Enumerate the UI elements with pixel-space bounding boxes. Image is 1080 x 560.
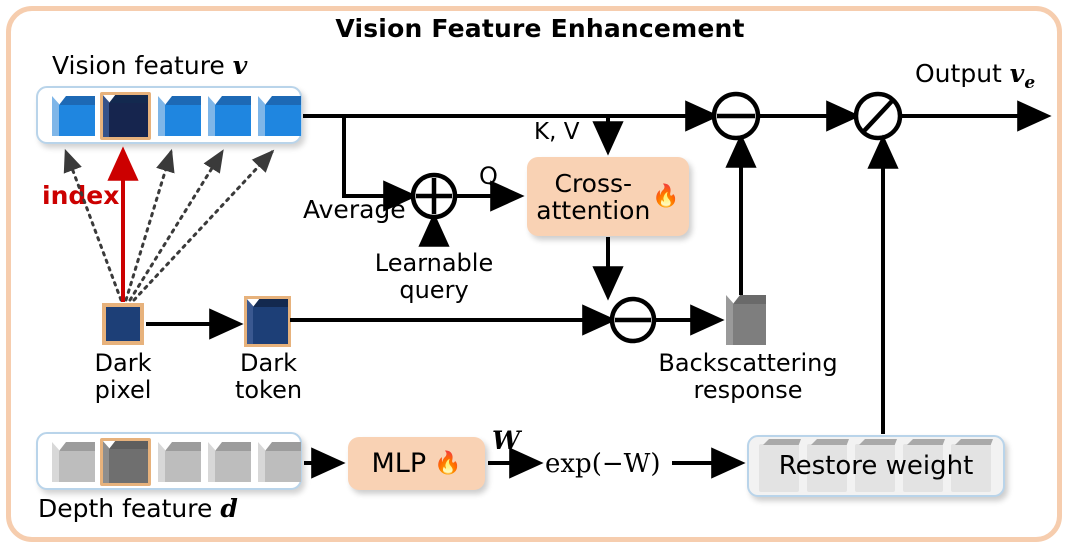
dark-token-label: Dark token [216, 350, 321, 404]
vision-token-2-highlight [100, 92, 151, 140]
q-label: Q [479, 163, 498, 190]
average-label: Average [303, 196, 406, 224]
page-title: Vision Feature Enhancement [0, 14, 1080, 43]
dark-token-highlight [244, 296, 291, 347]
dark-pixel-label-line2: pixel [73, 377, 173, 404]
depth-token-5[interactable] [258, 442, 301, 482]
dark-pixel-square[interactable] [102, 303, 144, 345]
depth-feature-label: Depth feature d [38, 495, 238, 523]
dark-pixel-label-line1: Dark [73, 350, 173, 377]
w-label: W [492, 427, 520, 455]
depth-feature-symbol: d [220, 494, 237, 523]
index-label: index [42, 182, 119, 210]
cross-attention-block[interactable]: Cross- attention 🔥 [527, 157, 689, 236]
flame-icon-mlp: 🔥 [434, 453, 461, 475]
learnable-query-line1: Learnable [364, 250, 504, 277]
vision-feature-label: Vision feature v [52, 52, 247, 80]
vision-feature-symbol: v [233, 51, 248, 80]
vision-token-3[interactable] [158, 96, 201, 136]
backscattering-line1: Backscattering [633, 350, 863, 377]
backscattering-line2: response [633, 377, 863, 404]
dark-token-label-line1: Dark [216, 350, 321, 377]
restore-weight-label: Restore weight [779, 451, 974, 481]
vision-token-5[interactable] [258, 96, 301, 136]
vision-token-4[interactable] [208, 96, 251, 136]
learnable-query-line2: query [364, 277, 504, 304]
output-label: Output ve [915, 60, 1035, 93]
restore-weight-block[interactable]: Restore weight [747, 435, 1005, 497]
flame-icon-cross-attention: 🔥 [652, 186, 679, 208]
cross-attention-line1: Cross- [536, 170, 650, 197]
output-symbol: v [1010, 59, 1025, 88]
depth-feature-strip [36, 432, 302, 490]
mlp-block[interactable]: MLP 🔥 [348, 437, 485, 490]
vision-token-1[interactable] [52, 96, 95, 136]
mlp-label: MLP [371, 448, 426, 479]
depth-token-2-highlight [100, 438, 151, 486]
backscattering-response-label: Backscattering response [633, 350, 863, 404]
backscattering-response-cube[interactable] [726, 295, 766, 345]
vision-feature-strip [36, 86, 302, 144]
cross-attention-line2: attention [536, 197, 650, 224]
kv-label: K, V [534, 120, 579, 146]
learnable-query-label: Learnable query [364, 250, 504, 304]
dark-pixel-label: Dark pixel [73, 350, 173, 404]
depth-token-4[interactable] [208, 442, 251, 482]
depth-token-3[interactable] [158, 442, 201, 482]
exp-neg-w-label: exp(−W) [545, 450, 661, 479]
dark-token-label-line2: token [216, 377, 321, 404]
output-subscript: e [1024, 73, 1035, 93]
diagram-canvas: Vision Feature Enhancement Vision featur… [0, 0, 1080, 560]
depth-token-1[interactable] [52, 442, 95, 482]
